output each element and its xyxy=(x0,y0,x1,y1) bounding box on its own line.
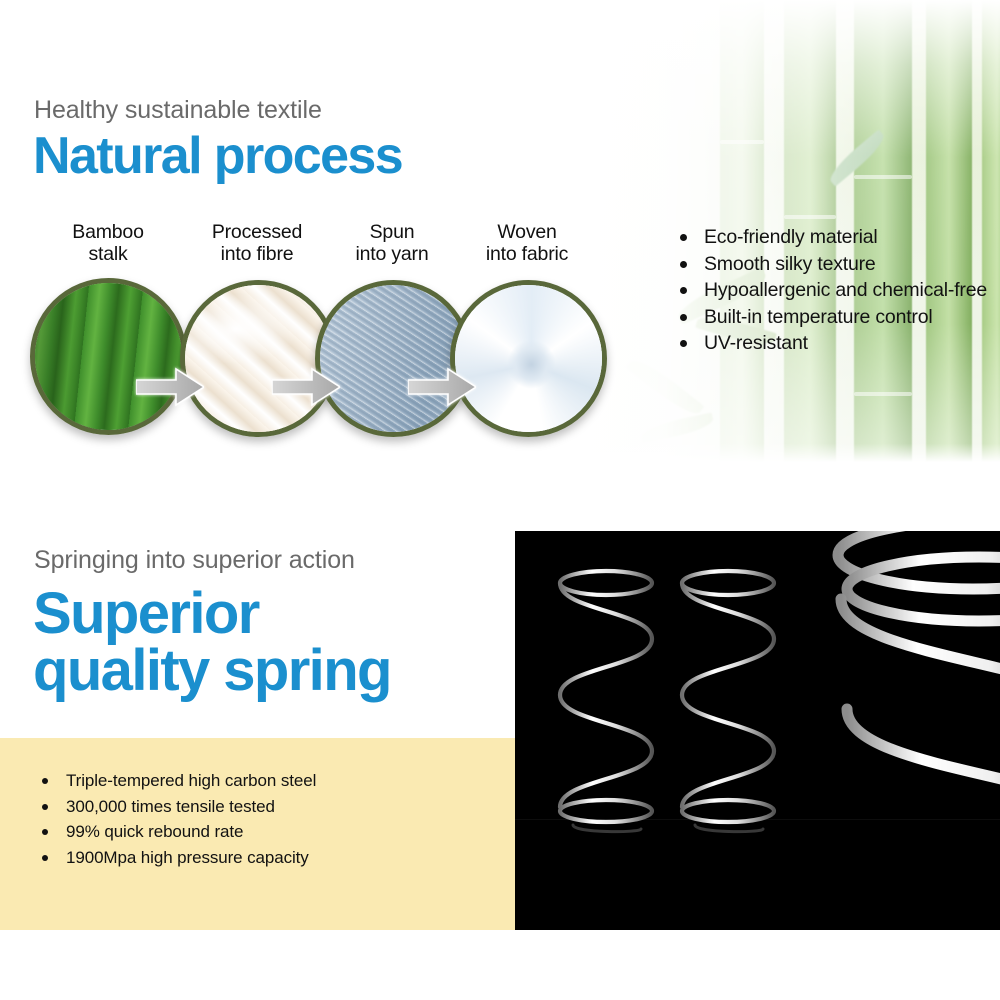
coil-spring-middle xyxy=(673,567,783,837)
top-eyebrow-text: Healthy sustainable textile xyxy=(34,96,322,125)
list-item: Smooth silky texture xyxy=(674,251,987,278)
step-label-4-line1: Woven xyxy=(452,222,602,244)
list-item: Hypoallergenic and chemical-free xyxy=(674,277,987,304)
list-item: Triple-tempered high carbon steel xyxy=(36,768,316,794)
coil-springs-photo xyxy=(515,531,1000,930)
step-image-2-processed-fibre xyxy=(180,280,337,437)
yarn-spool-photo xyxy=(320,285,467,432)
list-item: 99% quick rebound rate xyxy=(36,819,316,845)
step-label-3-line1: Spun xyxy=(317,222,467,244)
arrow-right-icon xyxy=(408,367,476,407)
bottom-headline-line1: Superior xyxy=(33,586,391,643)
process-steps-diagram: Bamboo stalk Processed into fibre Spun i… xyxy=(0,222,640,462)
list-item: UV-resistant xyxy=(674,330,987,357)
step-label-1-line1: Bamboo xyxy=(33,222,183,244)
step-label-2-line1: Processed xyxy=(182,222,332,244)
coil-spring-foreground xyxy=(783,531,1000,843)
step-label-2-line2: into fibre xyxy=(182,244,332,266)
step-label-4-line2: into fabric xyxy=(452,244,602,266)
list-item: 1900Mpa high pressure capacity xyxy=(36,845,316,871)
top-panel-natural-process: Healthy sustainable textile Natural proc… xyxy=(0,0,1000,462)
bamboo-fibre-photo xyxy=(185,285,332,432)
step-image-1-bamboo-stalk xyxy=(30,278,187,435)
step-image-4-woven-fabric xyxy=(450,280,607,437)
bottom-headline-text: Superior quality spring xyxy=(33,586,391,700)
bottom-eyebrow-text: Springing into superior action xyxy=(34,546,355,575)
bottom-headline-line2: quality spring xyxy=(33,643,391,700)
list-item: 300,000 times tensile tested xyxy=(36,794,316,820)
bamboo-stalk-photo xyxy=(35,283,182,430)
step-label-4: Woven into fabric xyxy=(452,222,602,266)
step-image-3-spun-yarn xyxy=(315,280,472,437)
spring-feature-list: Triple-tempered high carbon steel 300,00… xyxy=(36,768,316,870)
step-label-2: Processed into fibre xyxy=(182,222,332,266)
step-label-3: Spun into yarn xyxy=(317,222,467,266)
infographic-canvas: Healthy sustainable textile Natural proc… xyxy=(0,0,1000,1000)
top-headline-text: Natural process xyxy=(33,131,402,182)
step-label-1-line2: stalk xyxy=(33,244,183,266)
arrow-right-icon xyxy=(136,367,204,407)
step-label-3-line2: into yarn xyxy=(317,244,467,266)
step-label-1: Bamboo stalk xyxy=(33,222,183,266)
silk-fabric-photo xyxy=(455,285,602,432)
arrow-right-icon xyxy=(272,367,340,407)
coil-spring-left xyxy=(551,567,661,837)
list-item: Built-in temperature control xyxy=(674,304,987,331)
list-item: Eco-friendly material xyxy=(674,224,987,251)
bamboo-feature-list: Eco-friendly material Smooth silky textu… xyxy=(674,224,987,357)
